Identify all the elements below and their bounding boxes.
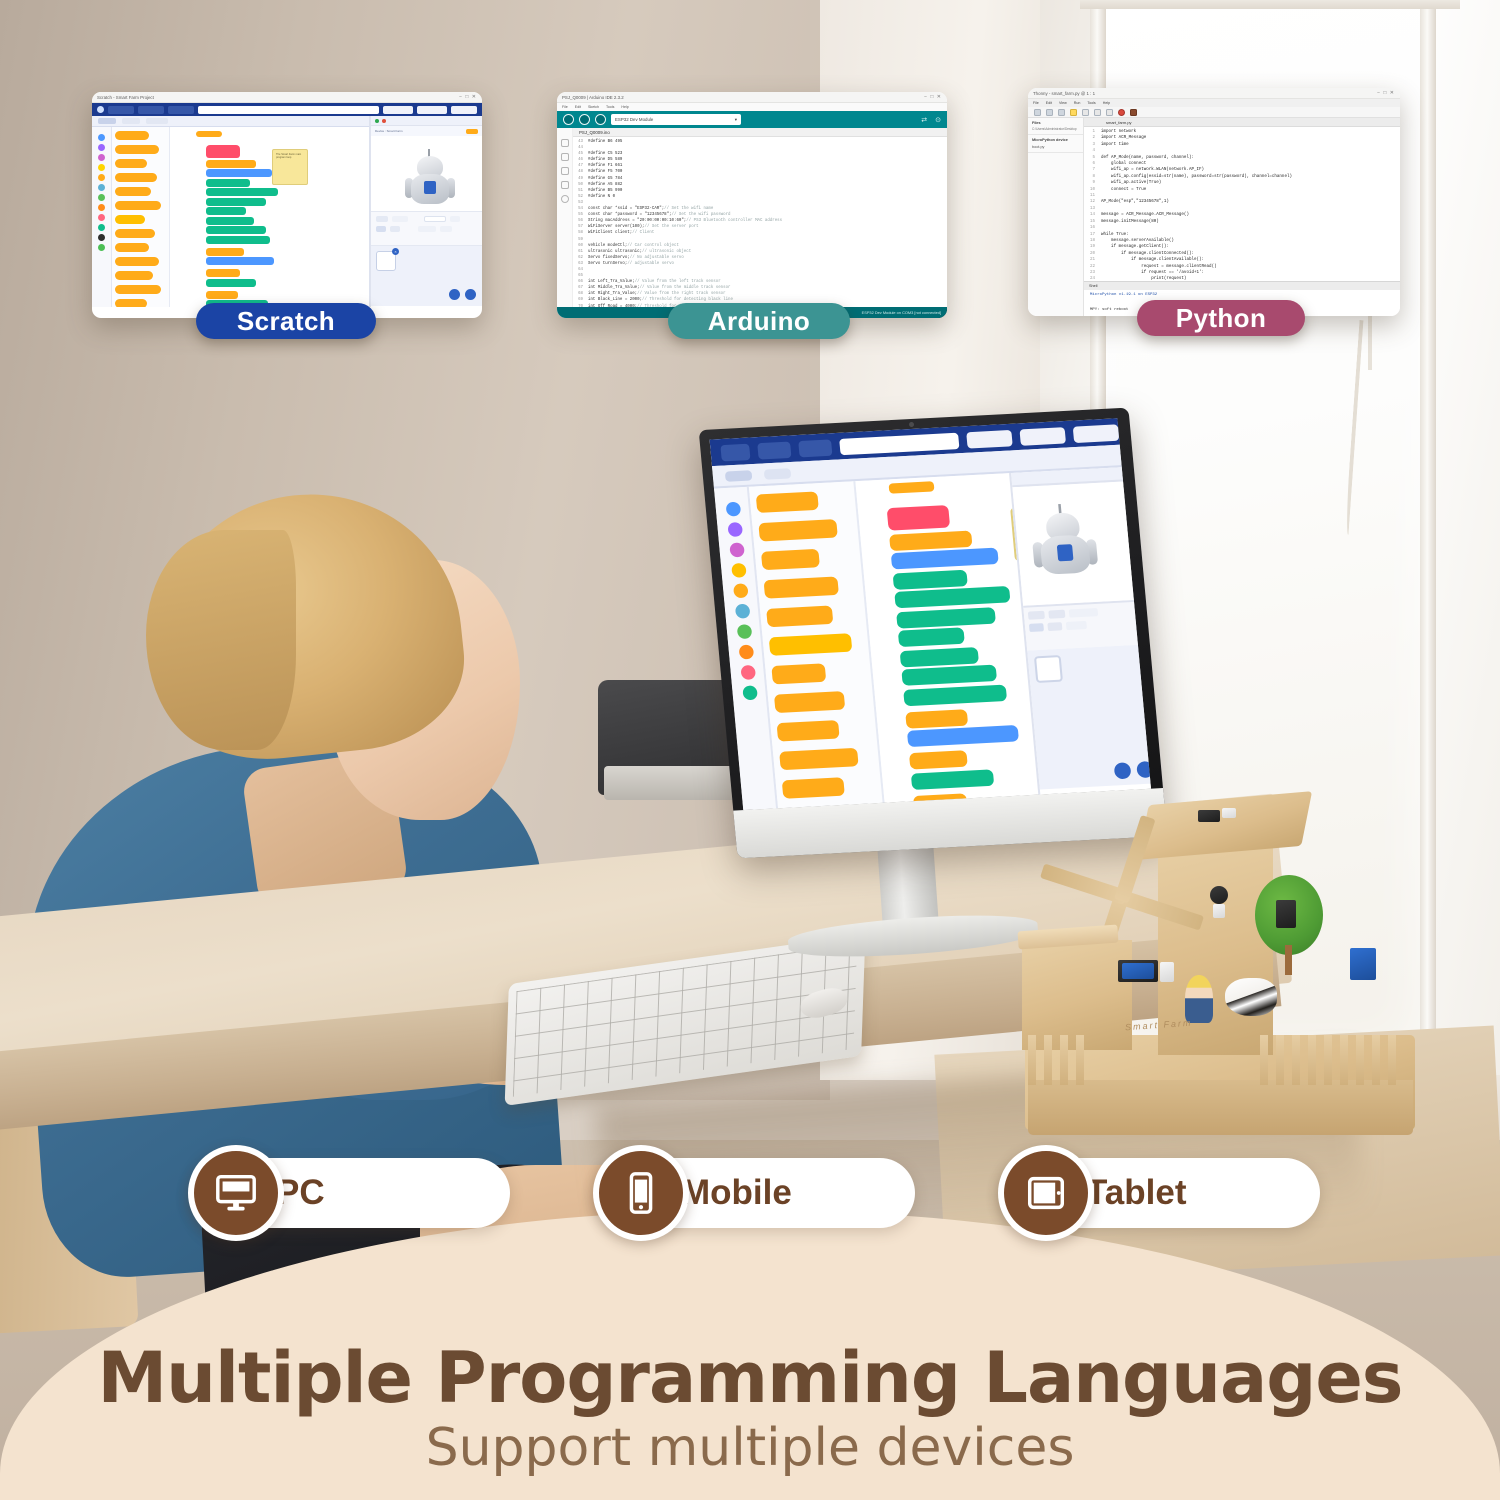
farm-figurine-girl	[1185, 975, 1213, 1023]
arduino-serial-plotter-icon[interactable]: ⇄	[921, 116, 927, 124]
python-window-controls[interactable]: − □ ✕	[1377, 90, 1395, 96]
library-manager-icon[interactable]	[561, 167, 569, 175]
scratch-connect-button[interactable]	[383, 106, 413, 114]
boy-hair-back	[146, 530, 296, 750]
python-menu-tools[interactable]: Tools	[1087, 101, 1095, 105]
pill-label-scratch: Scratch	[196, 303, 376, 339]
scratch-connected-indicator	[375, 119, 379, 123]
arduino-menu-sketch[interactable]: Sketch	[588, 105, 599, 109]
camera-sensor-icon	[1210, 886, 1228, 904]
farm-base-front	[1028, 1080, 1413, 1135]
arduino-menu-tools[interactable]: Tools	[606, 105, 614, 109]
new-file-icon[interactable]	[1034, 109, 1041, 116]
python-menu-help[interactable]: Help	[1103, 101, 1110, 105]
arduino-verify-icon[interactable]	[563, 114, 574, 125]
arduino-sketch-tab[interactable]: PSJ_Q0009.ino	[573, 128, 947, 137]
thonny-shell-tab[interactable]: Shell	[1084, 282, 1400, 290]
save-icon[interactable]	[1058, 109, 1065, 116]
scratch-robot-sprite	[403, 150, 457, 206]
step-over-icon[interactable]	[1094, 109, 1101, 116]
step-into-icon[interactable]	[1106, 109, 1113, 116]
thonny-shell-line-1: MicroPython v1.19.1 on ESP32	[1084, 290, 1400, 300]
scratch-script-stack[interactable]	[206, 145, 278, 307]
code-text: WiFiClient client;	[588, 230, 632, 236]
farm-shop	[1022, 940, 1132, 1050]
scratch-menu-edit[interactable]	[757, 440, 791, 458]
device-badge-label-tablet: Tablet	[1086, 1173, 1186, 1213]
scratch-upload-button[interactable]	[1019, 426, 1066, 445]
device-badge-label-mobile: Mobile	[681, 1173, 792, 1213]
thonny-files-title: Files	[1032, 121, 1079, 125]
device-badge-pc[interactable]: PC	[190, 1158, 510, 1228]
arduino-window-titlebar: PSJ_Q0009 | Arduino IDE 2.3.2 − □ ✕	[557, 92, 947, 103]
code-text: #define B6 495	[588, 139, 622, 145]
scratch-menu-device[interactable]	[798, 438, 832, 456]
code-comment: // PS3 Bluetooth controller MAC address	[686, 218, 782, 224]
arduino-debug-icon[interactable]	[595, 114, 606, 125]
scratch-loose-block[interactable]	[196, 131, 222, 137]
arduino-window-card[interactable]: PSJ_Q0009 | Arduino IDE 2.3.2 − □ ✕ File…	[557, 92, 947, 318]
arduino-board-name: ESP32 Dev Module	[615, 117, 653, 122]
device-badge-mobile[interactable]: Mobile	[595, 1158, 915, 1228]
arduino-code-area[interactable]: 43#define B6 4954445#define C5 52346#def…	[573, 137, 947, 310]
scratch-tab-console[interactable]	[146, 118, 168, 124]
run-icon[interactable]	[1070, 109, 1077, 116]
arduino-board-selector[interactable]: ESP32 Dev Module ▾	[611, 114, 741, 125]
scratch-window-title: Scratch - Smart Farm Project	[97, 95, 154, 100]
arduino-status-text: ESP32 Dev Module on COM3 [not connected]	[862, 310, 941, 315]
python-menu-run[interactable]: Run	[1074, 101, 1081, 105]
scratch-sprite-thumb-monitor[interactable]	[1034, 655, 1063, 683]
scratch-menu-file[interactable]	[720, 443, 750, 461]
scratch-tab-code[interactable]	[122, 118, 140, 124]
scratch-search-input[interactable]	[198, 106, 379, 114]
arduino-editor[interactable]: PSJ_Q0009.ino 43#define B6 4954445#defin…	[573, 128, 947, 318]
scratch-search-input[interactable]	[839, 432, 959, 455]
scratch-sprite-delete-icon[interactable]: ×	[392, 248, 399, 255]
code-text: AP_Mode("esp","12345678",1)	[1101, 199, 1169, 205]
thonny-device-title: MicroPython device	[1032, 138, 1079, 142]
smart-farm-model: Smart Farm	[1010, 780, 1430, 1140]
arduino-activity-rail[interactable]	[557, 128, 573, 318]
device-badge-tablet[interactable]: Tablet	[1000, 1158, 1320, 1228]
code-text: message.initMessage(80)	[1101, 219, 1159, 225]
scratch-tab-strip[interactable]	[92, 116, 369, 127]
python-menu-file[interactable]: File	[1033, 101, 1039, 105]
scratch-tab-blocks[interactable]	[98, 118, 116, 124]
scratch-stage-device-label: Device : Smart Farm	[375, 129, 403, 133]
arduino-toolbar[interactable]: ESP32 Dev Module ▾ ⇄ ⊙	[557, 111, 947, 128]
badge-circle-mobile	[593, 1145, 689, 1241]
scratch-stage-badge	[466, 129, 478, 134]
code-text: #define N 0	[588, 194, 615, 200]
search-icon[interactable]	[561, 195, 569, 203]
scratch-add-backdrop-button-monitor[interactable]	[1114, 762, 1132, 779]
scratch-add-backdrop-button[interactable]	[449, 289, 460, 300]
python-window-card[interactable]: Thonny - smart_farm.py @ 1 : 1 − □ ✕ Fil…	[1028, 88, 1400, 316]
folder-icon[interactable]	[561, 139, 569, 147]
python-menu-edit[interactable]: Edit	[1046, 101, 1052, 105]
python-menu-view[interactable]: View	[1059, 101, 1067, 105]
python-window-titlebar: Thonny - smart_farm.py @ 1 : 1 − □ ✕	[1028, 88, 1400, 99]
scratch-workspace[interactable]: The Smart Farm main program loop	[170, 127, 369, 307]
boards-manager-icon[interactable]	[561, 153, 569, 161]
oled-screen	[1122, 963, 1154, 979]
chevron-down-icon[interactable]: ▾	[735, 117, 737, 123]
thonny-device-section[interactable]: MicroPython device boot.py	[1028, 135, 1083, 153]
page-title: Multiple Programming Languages	[0, 1337, 1500, 1419]
camera-mount-icon	[1213, 904, 1225, 918]
scratch-add-sprite-button[interactable]	[465, 289, 476, 300]
dht-sensor-icon	[1350, 948, 1376, 980]
arduino-window-title: PSJ_Q0009 | Arduino IDE 2.3.2	[562, 95, 624, 100]
roof-module-icon	[1222, 808, 1236, 818]
scratch-menu-device[interactable]	[168, 106, 194, 114]
thonny-menubar[interactable]: File Edit View Run Tools Help	[1028, 99, 1400, 107]
thonny-editor-tab[interactable]: smart_farm.py	[1084, 118, 1400, 127]
arduino-menubar[interactable]: File Edit Sketch Tools Help	[557, 103, 947, 111]
scratch-menu-edit[interactable]	[138, 106, 164, 114]
page-subtitle: Support multiple devices	[0, 1418, 1500, 1478]
open-file-icon[interactable]	[1046, 109, 1053, 116]
arduino-menu-help[interactable]: Help	[621, 105, 628, 109]
smartphone-icon	[618, 1170, 664, 1216]
badge-circle-tablet	[998, 1145, 1094, 1241]
scratch-block-palette[interactable]	[112, 127, 170, 307]
roof-servo-icon	[1198, 810, 1220, 822]
scratch-connect-button[interactable]	[966, 429, 1013, 448]
debug-icon[interactable]	[561, 181, 569, 189]
thonny-files-section[interactable]: Files C:\Users\Administrator\Desktop	[1028, 118, 1083, 135]
shell-icon[interactable]	[1130, 109, 1137, 116]
python-window-title: Thonny - smart_farm.py @ 1 : 1	[1033, 91, 1095, 96]
scratch-window-titlebar: Scratch - Smart Farm Project − □ ✕	[92, 92, 482, 103]
arduino-window-controls[interactable]: − □ ✕	[924, 94, 942, 100]
pill-label-arduino: Arduino	[668, 303, 850, 339]
thonny-code-area[interactable]: 1import network2import ACR_Message3impor…	[1084, 127, 1400, 281]
scratch-window-controls[interactable]: − □ ✕	[459, 94, 477, 100]
scratch-category-rail[interactable]	[92, 127, 112, 307]
monitor-screen[interactable]	[710, 418, 1151, 810]
scratch-menubar[interactable]	[92, 103, 482, 116]
code-text: import time	[1101, 142, 1129, 148]
scratch-workspace-monitor[interactable]	[855, 473, 1039, 810]
device-badge-row: PC Mobile Tablet	[190, 1148, 1340, 1244]
code-text: Servo turnServo;	[588, 261, 627, 267]
scratch-stop-indicator	[382, 119, 386, 123]
code-comment: // Client	[632, 230, 654, 236]
servo-white-icon	[1160, 962, 1174, 982]
scratch-menu-file[interactable]	[108, 106, 134, 114]
code-text: connect = True	[1101, 187, 1146, 193]
scratch-stage-panel[interactable]: Device : Smart Farm	[370, 116, 482, 307]
scratch-save-button[interactable]	[1073, 423, 1120, 442]
scratch-save-button[interactable]	[451, 106, 477, 114]
thonny-device-file[interactable]: boot.py	[1032, 145, 1079, 149]
badge-circle-pc	[188, 1145, 284, 1241]
stop-icon[interactable]	[1118, 109, 1125, 116]
scratch-robot-sprite-monitor	[1027, 503, 1102, 577]
debug-icon[interactable]	[1082, 109, 1089, 116]
thonny-files-path: C:\Users\Administrator\Desktop	[1032, 127, 1079, 131]
arduino-serial-monitor-icon[interactable]: ⊙	[935, 116, 941, 124]
thonny-toolbar[interactable]	[1028, 107, 1400, 118]
scratch-logo-icon	[97, 106, 104, 113]
pill-label-python: Python	[1137, 300, 1305, 336]
scratch-sticky-note[interactable]: The Smart Farm main program loop	[272, 149, 308, 185]
window-mullion-top	[1080, 0, 1460, 9]
code-comment: // adjustable servo	[627, 261, 674, 267]
scratch-upload-button[interactable]	[417, 106, 447, 114]
thonny-sidebar[interactable]: Files C:\Users\Administrator\Desktop Mic…	[1028, 118, 1084, 316]
desktop-monitor-icon	[213, 1170, 259, 1216]
scratch-tab-code[interactable]	[764, 467, 792, 479]
arduino-menu-file[interactable]: File	[562, 105, 568, 109]
farm-figurine-cow	[1225, 978, 1277, 1016]
arduino-menu-edit[interactable]: Edit	[575, 105, 581, 109]
arduino-upload-icon[interactable]	[579, 114, 590, 125]
tree-sensor-board-icon	[1276, 900, 1296, 928]
scratch-tab-blocks[interactable]	[725, 469, 753, 481]
tablet-icon	[1023, 1170, 1069, 1216]
scratch-add-sprite-button-monitor[interactable]	[1136, 761, 1151, 778]
scratch-window-card[interactable]: Scratch - Smart Farm Project − □ ✕	[92, 92, 482, 318]
